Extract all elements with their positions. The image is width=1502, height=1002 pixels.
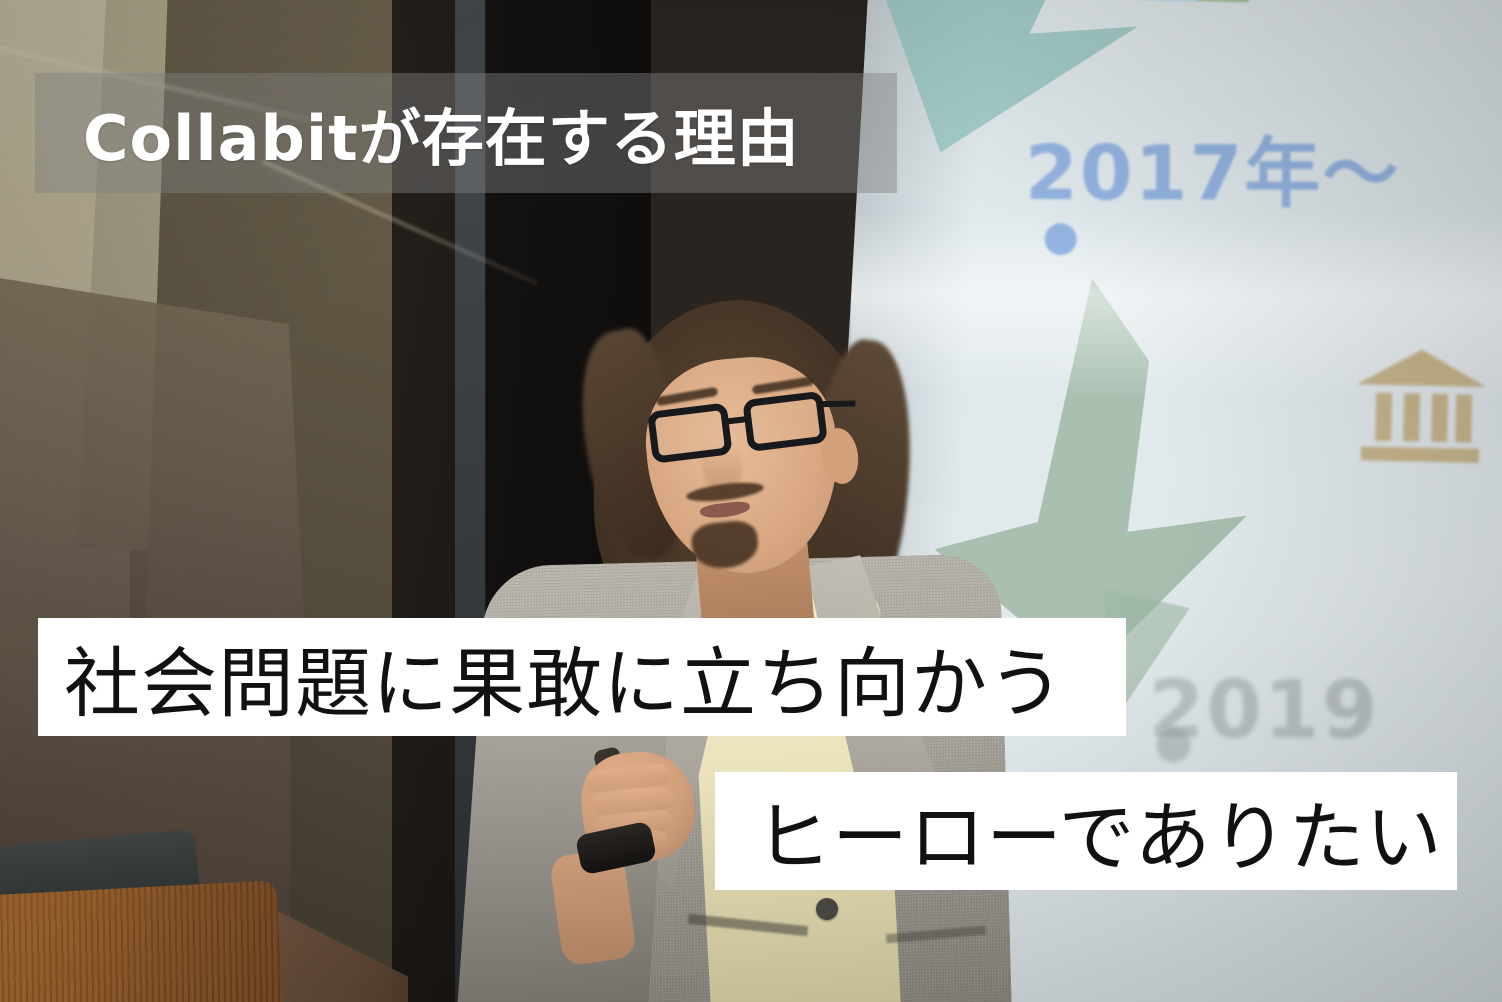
podium bbox=[0, 880, 284, 1002]
caption-title-text: Collabitが存在する理由 bbox=[83, 88, 800, 178]
caption-title-band: Collabitが存在する理由 bbox=[35, 73, 897, 193]
presentation-photo: PRI 2017年〜 2019 bbox=[0, 0, 1502, 1002]
caption-line2-band: ヒーローでありたい bbox=[715, 772, 1457, 890]
caption-line1-band: 社会問題に果敢に立ち向かう bbox=[38, 618, 1126, 736]
podium-wood-grain bbox=[0, 880, 284, 1002]
glasses-temple bbox=[821, 400, 855, 407]
caption-line1-text: 社会問題に果敢に立ち向かう bbox=[64, 622, 1065, 732]
glasses-lens-right bbox=[742, 391, 828, 452]
glasses-lens-left bbox=[647, 402, 733, 463]
speaker-jacket-button bbox=[816, 898, 838, 920]
caption-line2-text: ヒーローでありたい bbox=[755, 776, 1443, 886]
